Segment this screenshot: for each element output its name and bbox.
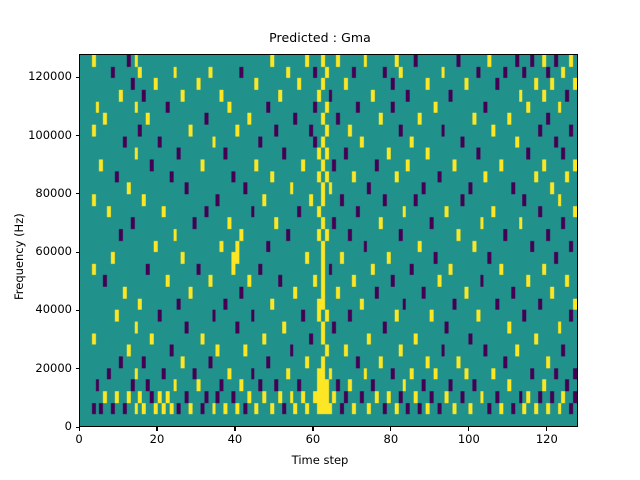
x-axis-tick-label: 120 (527, 432, 567, 446)
y-axis-tick-label: 120000 (28, 69, 72, 83)
matplotlib-figure: Predicted : Gma Frequency (Hz) 020000400… (0, 0, 640, 480)
x-axis-tick-mark (468, 427, 469, 431)
x-axis-tick-label: 40 (215, 432, 255, 446)
x-axis-tick-mark (156, 427, 157, 431)
x-axis-tick-label: 0 (59, 432, 99, 446)
y-axis-tick-label: 40000 (35, 302, 72, 316)
y-axis-label: Frequency (Hz) (12, 213, 26, 300)
x-axis-tick-mark (546, 427, 547, 431)
x-axis-tick-mark (390, 427, 391, 431)
x-axis-tick-label: 80 (371, 432, 411, 446)
y-axis-tick-label: 80000 (35, 186, 72, 200)
y-axis-tick-label: 100000 (28, 128, 72, 142)
x-axis-tick-label: 100 (449, 432, 489, 446)
x-axis-tick-mark (234, 427, 235, 431)
plot-area (79, 54, 578, 427)
x-axis-tick-mark (79, 427, 80, 431)
y-axis-tick-label: 20000 (35, 361, 72, 375)
x-axis-tick-label: 60 (293, 432, 333, 446)
y-axis-tick-label: 0 (65, 419, 72, 433)
heatmap-canvas (80, 55, 577, 426)
x-axis-tick-mark (312, 427, 313, 431)
x-axis-label: Time step (0, 453, 640, 467)
page-title: Predicted : Gma (0, 30, 640, 45)
y-axis-tick-label: 60000 (35, 244, 72, 258)
x-axis-tick-label: 20 (137, 432, 177, 446)
